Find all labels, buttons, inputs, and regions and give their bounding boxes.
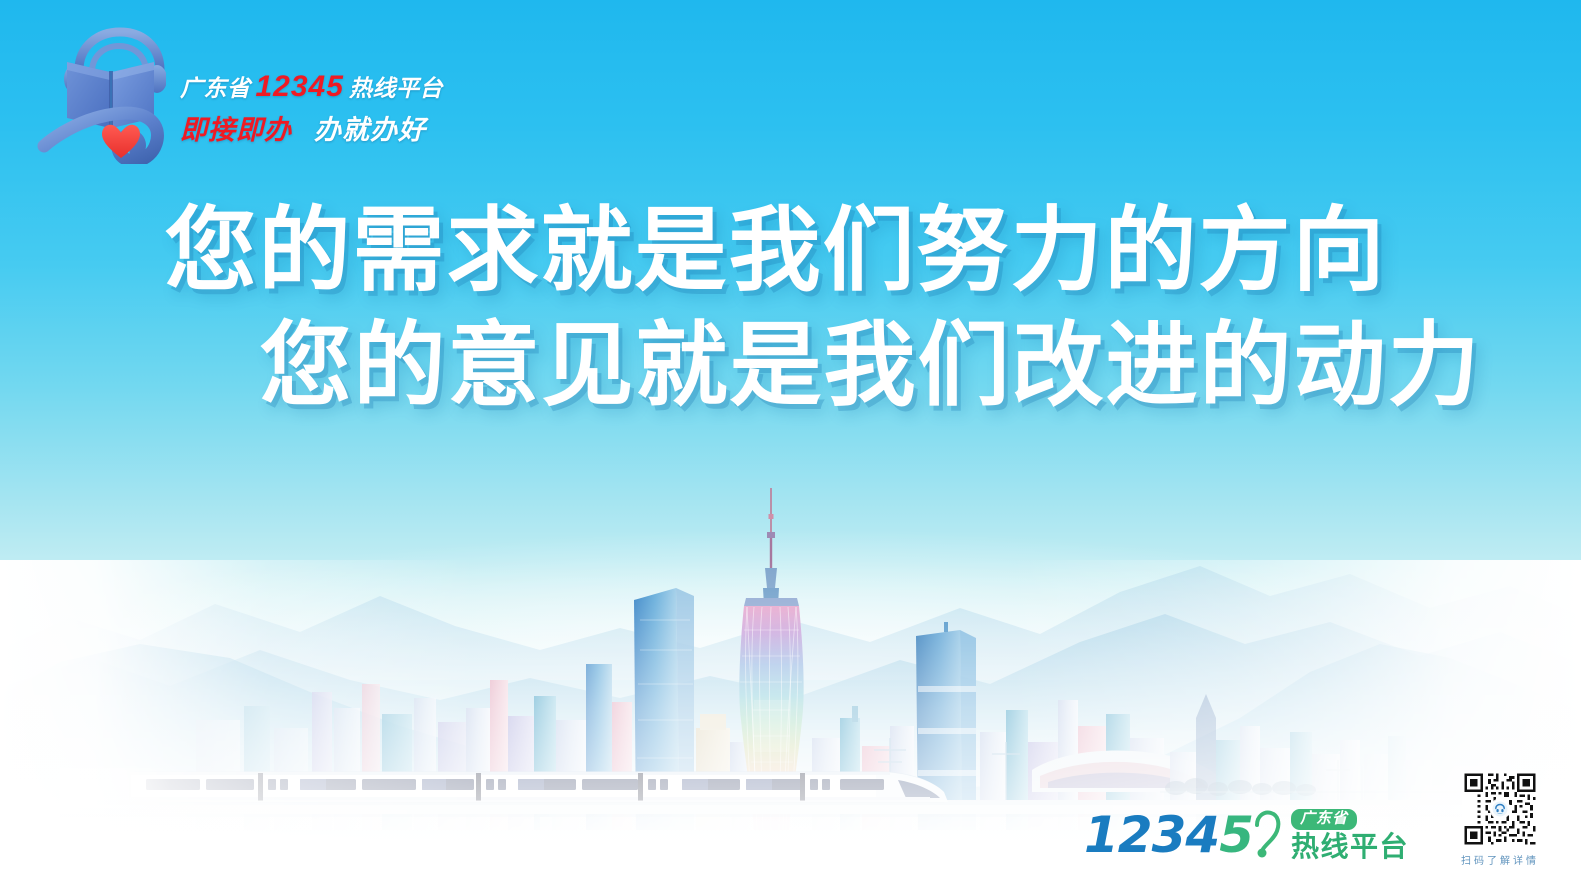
brand-province-label: 广东省: [180, 69, 251, 103]
brand-line-1: 广东省 12345 热线平台: [180, 69, 443, 104]
hotline-logo-lockup: 1234 5 广东省 热线平台: [1084, 809, 1409, 861]
slogan-line-1: 您的需求就是我们努力的方向: [164, 196, 1386, 305]
brand-line-2: 即接即办 办就办好: [180, 108, 443, 147]
main-slogan: 您的需求就是我们努力的方向 您的意见就是我们改进的动力: [0, 196, 1581, 419]
brand-motto-white: 办就办好: [314, 108, 426, 147]
hotline-digits-blue: 1234: [1084, 810, 1219, 860]
hotline-number: 1234 5: [1084, 810, 1253, 860]
brand-platform-label: 热线平台: [349, 69, 443, 103]
city-skyline-illustration: [0, 470, 1581, 830]
poster-canvas: 广东省 12345 热线平台 即接即办 办就办好 您的需求就是我们努力的方向 您…: [0, 0, 1581, 883]
qr-caption: 扫码了解详情: [1461, 852, 1539, 867]
hotline-province-badge: 广东省: [1291, 809, 1357, 830]
hotline-right-text: 广东省 热线平台: [1291, 809, 1409, 861]
brand-motto-red: 即接即办: [180, 108, 292, 147]
slogan-line-2: 您的意见就是我们改进的动力: [259, 311, 1481, 420]
brand-text-block: 广东省 12345 热线平台 即接即办 办就办好: [180, 41, 443, 147]
headset-curl-icon: [1253, 809, 1283, 861]
high-speed-train: [60, 768, 948, 808]
hotline-digits-green: 5: [1219, 810, 1253, 860]
brand-hotline-number: 12345: [256, 70, 344, 104]
qr-block[interactable]: 扫码了解详情: [1461, 771, 1539, 867]
qr-code-icon[interactable]: [1462, 771, 1538, 847]
headset-book-heart-logo-icon: [36, 24, 166, 164]
hotline-circle-logo-icon: [1491, 800, 1510, 819]
brand-lockup: 广东省 12345 热线平台 即接即办 办就办好: [36, 24, 443, 164]
hotline-platform-label: 热线平台: [1291, 833, 1409, 861]
